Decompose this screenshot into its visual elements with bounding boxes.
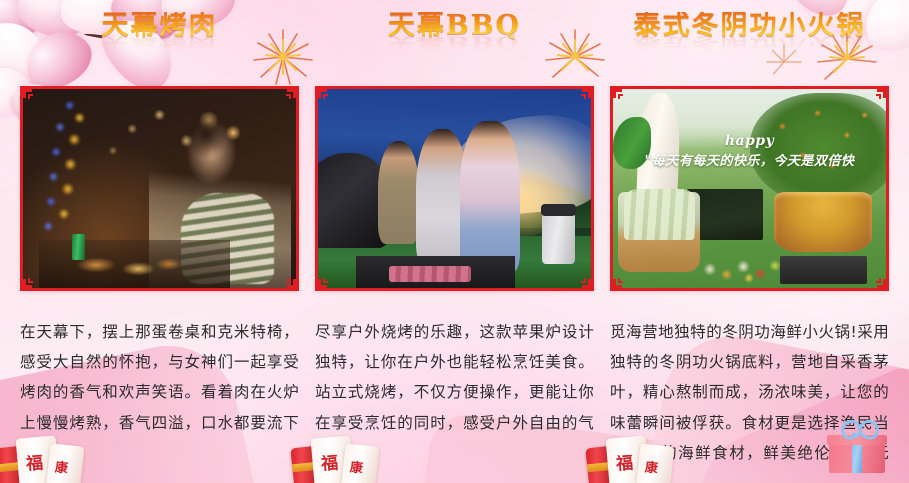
photo-dusk-bbq — [318, 89, 591, 288]
lantern-ornament: 福 康 — [586, 431, 690, 483]
photo-text-overlay: happy "每天有每天的快乐，今天是双倍快 — [613, 133, 886, 169]
drink-can — [72, 234, 85, 260]
column-hotpot: 泰式冬阴功小火锅 泰式冬阴功小火锅 happy — [602, 0, 897, 483]
frame-corner-top-right-icon — [576, 89, 591, 102]
title-block: 天幕BBQ 天幕BBQ — [315, 0, 594, 82]
frame-corner-bottom-right-icon — [576, 275, 591, 288]
grilled-meat — [389, 266, 471, 282]
copper-hotpot — [774, 192, 872, 252]
overlay-slogan-text: "每天有每天的快乐，今天是双倍快 — [613, 150, 886, 169]
poster-canvas: 天幕烤肉 天幕烤肉 福 — [0, 0, 909, 483]
string-lights-decoration — [34, 93, 100, 248]
fu-character: 福 — [25, 448, 44, 474]
kang-character: 康 — [54, 456, 69, 476]
photo-frame[interactable] — [20, 86, 299, 291]
column-title: 泰式冬阴功小火锅 — [634, 12, 866, 39]
title-block: 泰式冬阴功小火锅 泰式冬阴功小火锅 — [610, 0, 889, 82]
title-block: 天幕烤肉 天幕烤肉 — [20, 0, 299, 82]
frame-corner-top-right-icon — [871, 89, 886, 102]
frame-corner-top-left-icon — [23, 89, 38, 102]
gas-stove — [780, 256, 867, 284]
photo-frame[interactable] — [315, 86, 594, 291]
beverage-bottles — [624, 189, 695, 241]
seafood-platter — [695, 242, 788, 286]
gift-box-icon — [829, 429, 887, 473]
frame-corner-bottom-right-icon — [871, 275, 886, 288]
overlay-happy-text: happy — [613, 133, 886, 149]
kang-character: 康 — [644, 456, 659, 476]
frame-corner-bottom-left-icon — [318, 275, 333, 288]
lantern-ornament: 福 康 — [0, 431, 100, 483]
column-title: 天幕BBQ — [388, 12, 521, 39]
frame-corner-bottom-left-icon — [23, 275, 38, 288]
fu-character: 福 — [615, 448, 634, 474]
trash-bin — [542, 212, 575, 264]
photo-night-grill — [23, 89, 296, 288]
column-grill: 天幕烤肉 天幕烤肉 福 — [12, 0, 307, 483]
kang-character: 康 — [349, 456, 364, 476]
lantern-ornament: 福 康 — [291, 431, 395, 483]
frame-corner-bottom-left-icon — [613, 275, 628, 288]
frame-corner-bottom-right-icon — [281, 275, 296, 288]
photo-hotpot: happy "每天有每天的快乐，今天是双倍快 — [613, 89, 886, 288]
person-figure — [460, 121, 520, 272]
fu-character: 福 — [320, 448, 339, 474]
column-title: 天幕烤肉 — [102, 12, 218, 39]
columns-container: 天幕烤肉 天幕烤肉 福 — [0, 0, 909, 483]
person-figure — [378, 141, 419, 244]
frame-corner-top-left-icon — [613, 89, 628, 102]
column-bbq: 天幕BBQ 天幕BBQ — [307, 0, 602, 483]
frame-corner-top-left-icon — [318, 89, 333, 102]
frame-corner-top-right-icon — [281, 89, 296, 102]
grill-table — [39, 240, 230, 288]
photo-frame[interactable]: happy "每天有每天的快乐，今天是双倍快 — [610, 86, 889, 291]
